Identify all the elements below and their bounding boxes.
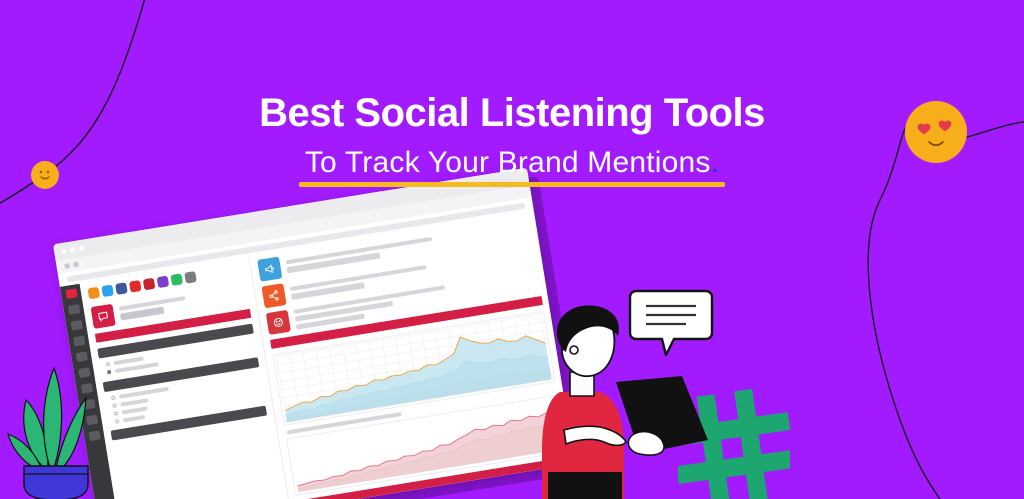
checkbox-icon [112, 403, 117, 408]
whatsapp-icon[interactable] [170, 273, 183, 286]
radio-icon [106, 362, 111, 367]
placeholder-line [113, 356, 143, 365]
share-nodes-icon [261, 283, 286, 308]
checkbox-icon [115, 419, 120, 424]
tab-new-icon[interactable] [73, 262, 79, 268]
placeholder-line [120, 398, 148, 406]
facebook-icon[interactable] [115, 282, 128, 295]
twitch-icon[interactable] [157, 276, 170, 289]
potted-plant [0, 358, 106, 499]
hero-banner: Best Social Listening Tools To Track You… [0, 0, 1024, 499]
plant-pot [24, 466, 88, 499]
page-subtitle: To Track Your Brand Mentions. [305, 146, 719, 180]
placeholder-line [123, 415, 145, 422]
tab-favicon [64, 263, 70, 269]
plant-leaves [8, 368, 86, 470]
sidebar-item-mentions[interactable] [68, 304, 80, 315]
headline-block: Best Social Listening Tools To Track You… [0, 92, 1024, 187]
sidebar-item-home[interactable] [65, 288, 77, 299]
comment-speech-bubble [628, 287, 714, 359]
dashboard-window-wrapper: edinghttps://globe.adsexchange.com/#ryan… [53, 168, 575, 499]
megaphone-icon [257, 256, 282, 281]
traffic-light-close[interactable] [61, 248, 67, 254]
traffic-light-minimize[interactable] [70, 247, 76, 253]
traffic-light-maximize[interactable] [79, 246, 85, 252]
youtube-icon[interactable] [129, 280, 142, 293]
twitter-icon[interactable] [101, 285, 114, 298]
subtitle-text: To Track Your Brand Mentions [305, 146, 711, 179]
subtitle-underline [299, 182, 725, 187]
checkbox-icon [114, 411, 119, 416]
laptop-device [616, 376, 708, 455]
subtitle-period: . [711, 146, 720, 179]
radio-icon-selected [107, 370, 112, 375]
placeholder-line [121, 406, 147, 414]
instagram-icon[interactable] [88, 287, 101, 300]
sidebar-item-reports[interactable] [73, 336, 85, 347]
person-body [542, 305, 626, 499]
chat-bubble-icon [91, 304, 116, 329]
checkbox-icon [111, 395, 116, 400]
more-icon[interactable] [184, 271, 197, 284]
pinterest-icon[interactable] [143, 278, 156, 291]
page-title: Best Social Listening Tools [0, 92, 1024, 134]
browser-window: edinghttps://globe.adsexchange.com/#ryan… [53, 168, 575, 499]
sidebar-item-analytics[interactable] [70, 320, 82, 331]
subtitle-wrapper: To Track Your Brand Mentions. [299, 146, 725, 187]
smiley-icon [266, 310, 291, 335]
